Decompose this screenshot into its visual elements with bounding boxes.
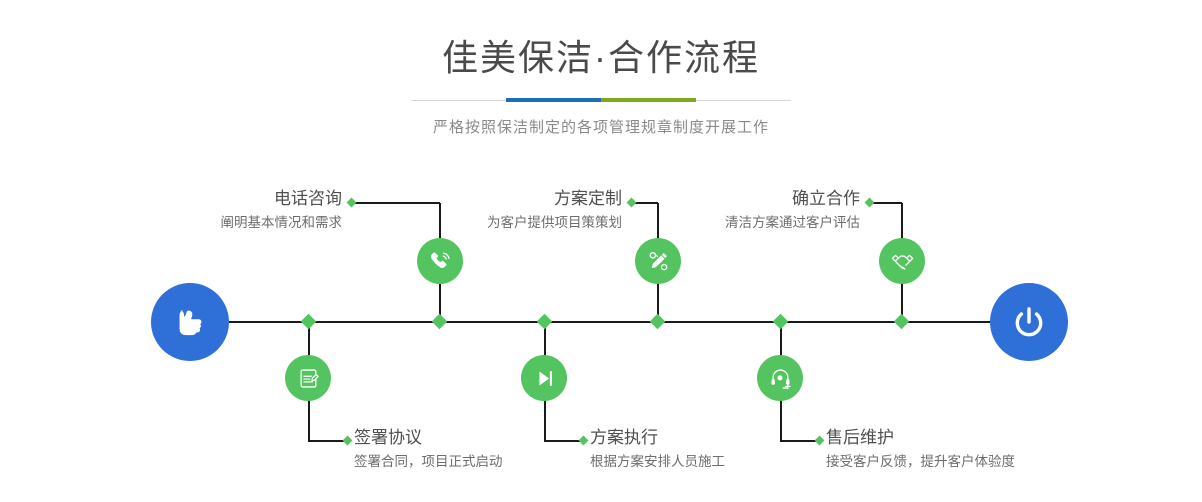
cooperation-flow-infographic: 佳美保洁·合作流程 严格按照保洁制定的各项管理规章制度开展工作 (0, 0, 1202, 502)
step-icon-circle[interactable] (757, 355, 803, 401)
step-icon-circle[interactable] (285, 355, 331, 401)
axis-node-marker (537, 314, 553, 330)
step-desc: 清洁方案通过客户评估 (640, 214, 860, 232)
pencil-ruler-icon (645, 248, 672, 275)
label-marker (865, 198, 875, 208)
label-marker (347, 198, 357, 208)
handshake-icon (889, 248, 916, 275)
step-desc: 为客户提供项目策策划 (400, 214, 622, 232)
axis-node-marker (894, 314, 910, 330)
step-desc: 签署合同，项目正式启动 (354, 453, 584, 471)
step-title: 售后维护 (826, 427, 1086, 448)
label-marker (343, 436, 353, 446)
connector-horizontal (870, 202, 902, 204)
connector-horizontal (308, 440, 346, 442)
step-title: 电话咨询 (120, 188, 342, 209)
axis-node-marker (432, 314, 448, 330)
phone-call-icon (427, 248, 454, 275)
step-desc: 接受客户反馈，提升客户体验度 (826, 453, 1086, 471)
step-icon-circle[interactable] (521, 355, 567, 401)
document-edit-icon (295, 365, 322, 392)
power-icon (1007, 300, 1051, 344)
step-label: 方案定制 为客户提供项目策策划 (400, 188, 622, 232)
axis-node-marker (301, 314, 317, 330)
step-label: 售后维护 接受客户反馈，提升客户体验度 (826, 427, 1086, 471)
step-label: 签署协议 签署合同，项目正式启动 (354, 427, 584, 471)
step-icon-circle[interactable] (635, 238, 681, 284)
step-icon-circle[interactable] (879, 238, 925, 284)
step-desc: 根据方案安排人员施工 (590, 453, 820, 471)
step-desc: 阐明基本情况和需求 (120, 214, 342, 232)
step-title: 签署协议 (354, 427, 584, 448)
label-marker (627, 198, 637, 208)
step-label: 电话咨询 阐明基本情况和需求 (120, 188, 342, 232)
step-title: 方案执行 (590, 427, 820, 448)
timeline: 电话咨询 阐明基本情况和需求 签署协议 签署合同，项目正式启动 (0, 0, 1202, 502)
step-label: 确立合作 清洁方案通过客户评估 (640, 188, 860, 232)
axis-node-marker (650, 314, 666, 330)
pointing-hand-icon (168, 300, 212, 344)
play-next-icon (531, 365, 558, 392)
step-title: 方案定制 (400, 188, 622, 209)
step-title: 确立合作 (640, 188, 860, 209)
timeline-end-endpoint[interactable] (990, 283, 1068, 361)
axis-node-marker (773, 314, 789, 330)
step-label: 方案执行 根据方案安排人员施工 (590, 427, 820, 471)
step-icon-circle[interactable] (417, 238, 463, 284)
timeline-start-endpoint[interactable] (151, 283, 229, 361)
headset-support-icon (767, 365, 794, 392)
